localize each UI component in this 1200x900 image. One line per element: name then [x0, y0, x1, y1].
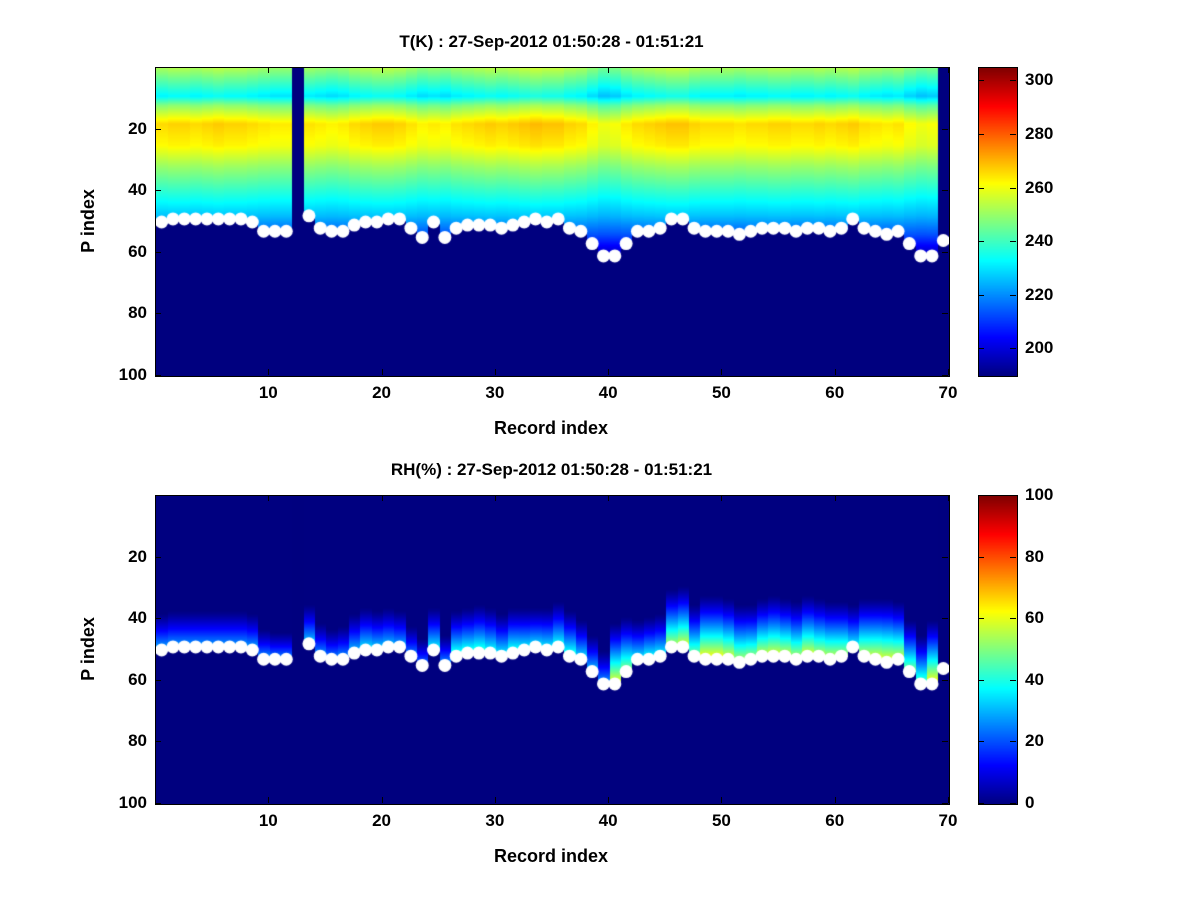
- x-tick-label: 10: [259, 383, 278, 403]
- x-tick-label: 70: [939, 383, 958, 403]
- figure-canvas: T(K) : 27-Sep-2012 01:50:28 - 01:51:21 1…: [0, 0, 1200, 900]
- temperature-colorbar: [978, 67, 1018, 377]
- colorbar-tick-mark-left: [978, 348, 984, 349]
- temperature-plot-title: T(K) : 27-Sep-2012 01:50:28 - 01:51:21: [155, 32, 948, 52]
- temperature-yaxis-label: P index: [78, 189, 99, 253]
- x-tick-mark: [948, 369, 949, 375]
- humidity-colorbar-gradient: [979, 496, 1017, 804]
- x-tick-mark: [382, 369, 383, 375]
- x-tick-label: 20: [372, 383, 391, 403]
- humidity-colorbar: [978, 495, 1018, 805]
- y-tick-mark-right: [942, 129, 948, 130]
- colorbar-tick-mark: [1010, 80, 1016, 81]
- y-tick-mark: [155, 680, 161, 681]
- x-tick-mark: [268, 797, 269, 803]
- y-tick-label: 20: [99, 547, 147, 567]
- y-tick-mark-right: [942, 252, 948, 253]
- y-tick-label: 60: [99, 670, 147, 690]
- colorbar-tick-mark-left: [978, 803, 984, 804]
- colorbar-tick-label: 40: [1025, 670, 1044, 690]
- colorbar-tick-mark: [1010, 495, 1016, 496]
- x-tick-mark: [948, 797, 949, 803]
- y-tick-label: 80: [99, 303, 147, 323]
- x-tick-mark-top: [608, 495, 609, 501]
- colorbar-tick-mark-left: [978, 557, 984, 558]
- colorbar-tick-label: 280: [1025, 124, 1053, 144]
- x-tick-mark-top: [608, 67, 609, 73]
- y-tick-mark-right: [942, 803, 948, 804]
- temperature-heatmap-canvas: [156, 68, 949, 376]
- x-tick-label: 30: [485, 383, 504, 403]
- panel-relative-humidity: RH(%) : 27-Sep-2012 01:50:28 - 01:51:21 …: [0, 450, 1200, 900]
- y-tick-mark-right: [942, 375, 948, 376]
- y-tick-mark: [155, 313, 161, 314]
- colorbar-tick-label: 0: [1025, 793, 1034, 813]
- x-tick-mark: [268, 369, 269, 375]
- colorbar-tick-mark: [1010, 557, 1016, 558]
- x-tick-label: 60: [825, 383, 844, 403]
- colorbar-tick-mark: [1010, 618, 1016, 619]
- x-tick-mark-top: [721, 67, 722, 73]
- x-tick-label: 50: [712, 383, 731, 403]
- x-tick-mark-top: [948, 67, 949, 73]
- colorbar-tick-label: 80: [1025, 547, 1044, 567]
- colorbar-tick-mark: [1010, 803, 1016, 804]
- temperature-colorbar-gradient: [979, 68, 1017, 376]
- y-tick-mark: [155, 129, 161, 130]
- temperature-xaxis-label: Record index: [494, 418, 608, 439]
- colorbar-tick-mark-left: [978, 188, 984, 189]
- y-tick-mark: [155, 557, 161, 558]
- x-tick-label: 40: [599, 383, 618, 403]
- colorbar-tick-mark-left: [978, 134, 984, 135]
- x-tick-mark-top: [721, 495, 722, 501]
- y-tick-mark-right: [942, 618, 948, 619]
- colorbar-tick-mark-left: [978, 495, 984, 496]
- x-tick-label: 40: [599, 811, 618, 831]
- humidity-plot-title: RH(%) : 27-Sep-2012 01:50:28 - 01:51:21: [155, 460, 948, 480]
- x-tick-mark-top: [268, 67, 269, 73]
- y-tick-mark-right: [942, 557, 948, 558]
- humidity-heatmap-axes: [155, 495, 950, 805]
- x-tick-label: 20: [372, 811, 391, 831]
- colorbar-tick-mark: [1010, 188, 1016, 189]
- x-tick-mark-top: [268, 495, 269, 501]
- x-tick-mark: [835, 369, 836, 375]
- colorbar-tick-mark: [1010, 680, 1016, 681]
- x-tick-label: 70: [939, 811, 958, 831]
- panel-temperature: T(K) : 27-Sep-2012 01:50:28 - 01:51:21 1…: [0, 0, 1200, 450]
- colorbar-tick-mark-left: [978, 80, 984, 81]
- x-tick-label: 50: [712, 811, 731, 831]
- x-tick-mark: [721, 369, 722, 375]
- humidity-xaxis-label: Record index: [494, 846, 608, 867]
- colorbar-tick-mark-left: [978, 618, 984, 619]
- y-tick-label: 60: [99, 242, 147, 262]
- x-tick-mark-top: [835, 495, 836, 501]
- y-tick-mark-right: [942, 313, 948, 314]
- x-tick-mark-top: [835, 67, 836, 73]
- colorbar-tick-mark-left: [978, 295, 984, 296]
- x-tick-mark-top: [495, 495, 496, 501]
- colorbar-tick-mark: [1010, 241, 1016, 242]
- y-tick-mark-right: [942, 680, 948, 681]
- x-tick-label: 30: [485, 811, 504, 831]
- colorbar-tick-label: 100: [1025, 485, 1053, 505]
- colorbar-tick-label: 200: [1025, 338, 1053, 358]
- colorbar-tick-mark-left: [978, 241, 984, 242]
- colorbar-tick-label: 220: [1025, 285, 1053, 305]
- x-tick-mark: [608, 797, 609, 803]
- x-tick-mark-top: [382, 495, 383, 501]
- colorbar-tick-label: 300: [1025, 70, 1053, 90]
- y-tick-label: 20: [99, 119, 147, 139]
- y-tick-mark-right: [942, 741, 948, 742]
- temperature-heatmap-axes: [155, 67, 950, 377]
- y-tick-mark: [155, 803, 161, 804]
- y-tick-label: 80: [99, 731, 147, 751]
- colorbar-tick-label: 260: [1025, 178, 1053, 198]
- y-tick-label: 100: [99, 793, 147, 813]
- y-tick-mark-right: [942, 190, 948, 191]
- x-tick-mark: [835, 797, 836, 803]
- y-tick-label: 40: [99, 608, 147, 628]
- colorbar-tick-mark-left: [978, 741, 984, 742]
- colorbar-tick-mark: [1010, 134, 1016, 135]
- y-tick-mark: [155, 375, 161, 376]
- y-tick-mark: [155, 618, 161, 619]
- y-tick-label: 40: [99, 180, 147, 200]
- colorbar-tick-mark-left: [978, 680, 984, 681]
- colorbar-tick-mark: [1010, 295, 1016, 296]
- x-tick-mark: [382, 797, 383, 803]
- colorbar-tick-label: 20: [1025, 731, 1044, 751]
- colorbar-tick-mark: [1010, 741, 1016, 742]
- x-tick-mark: [495, 797, 496, 803]
- x-tick-mark-top: [382, 67, 383, 73]
- x-tick-mark: [608, 369, 609, 375]
- x-tick-mark: [721, 797, 722, 803]
- x-tick-mark-top: [948, 495, 949, 501]
- x-tick-mark: [495, 369, 496, 375]
- x-tick-label: 10: [259, 811, 278, 831]
- y-tick-mark: [155, 252, 161, 253]
- colorbar-tick-label: 240: [1025, 231, 1053, 251]
- colorbar-tick-label: 60: [1025, 608, 1044, 628]
- humidity-yaxis-label: P index: [78, 617, 99, 681]
- y-tick-label: 100: [99, 365, 147, 385]
- y-tick-mark: [155, 190, 161, 191]
- colorbar-tick-mark: [1010, 348, 1016, 349]
- x-tick-mark-top: [495, 67, 496, 73]
- y-tick-mark: [155, 741, 161, 742]
- x-tick-label: 60: [825, 811, 844, 831]
- humidity-heatmap-canvas: [156, 496, 949, 804]
